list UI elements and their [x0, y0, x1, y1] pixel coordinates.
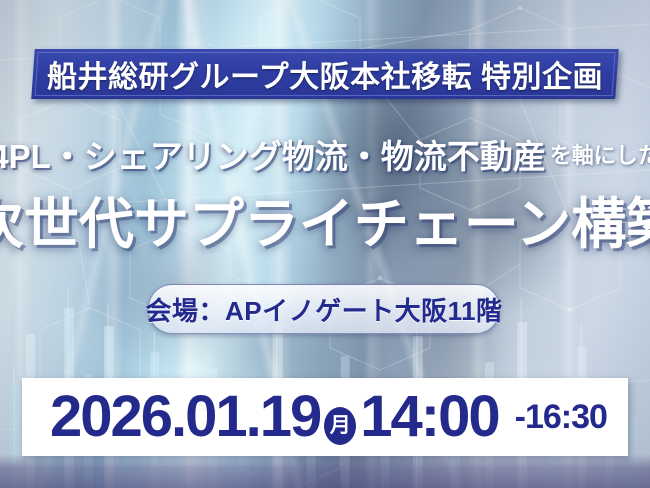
- subtitle-suffix: を軸にした: [550, 138, 650, 170]
- venue-pill: 会場：APイノゲート大阪11階: [148, 284, 500, 334]
- seminar-poster: 船井総研グループ大阪本社移転 特別企画 4PL・シェアリング物流・物流不動産 を…: [0, 0, 650, 488]
- subtitle-emphasis: 4PL・シェアリング物流・物流不動産: [0, 130, 546, 178]
- event-end-time: -16:30: [515, 398, 607, 437]
- venue-label: 会場：APイノゲート大阪11階: [145, 291, 502, 328]
- event-date: 2026.01.19: [50, 384, 320, 449]
- banner-title: 船井総研グループ大阪本社移転 特別企画: [33, 49, 617, 99]
- main-headline: 次世代サプライチェーン構築: [0, 182, 650, 256]
- subtitle-line: 4PL・シェアリング物流・物流不動産 を軸にした: [0, 131, 650, 177]
- date-line: 2026.01.19月14:00: [50, 388, 499, 446]
- weekday-badge: 月: [324, 407, 356, 445]
- event-start-time: 14:00: [360, 384, 498, 449]
- date-bar: 2026.01.19月14:00 -16:30: [22, 378, 628, 456]
